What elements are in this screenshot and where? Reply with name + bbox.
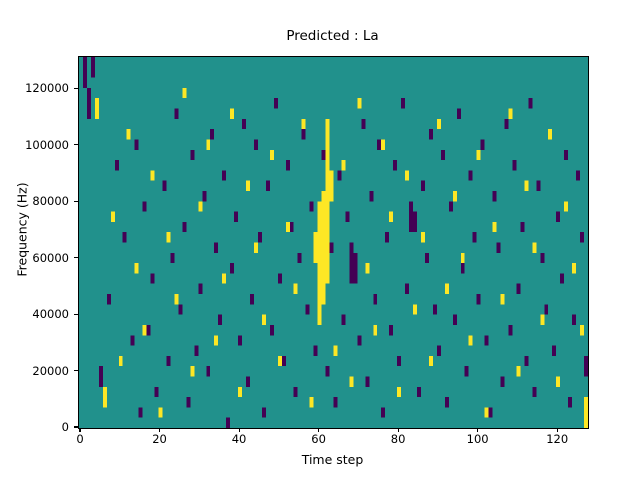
y-tick-mark bbox=[74, 426, 78, 427]
y-tick-mark bbox=[74, 144, 78, 145]
y-tick-label: 100000 bbox=[0, 138, 69, 152]
x-tick-label: 100 bbox=[467, 432, 489, 446]
y-tick-label: 20000 bbox=[0, 364, 69, 378]
x-tick-label: 60 bbox=[311, 432, 326, 446]
y-tick-mark bbox=[74, 201, 78, 202]
x-axis-label: Time step bbox=[78, 452, 587, 467]
x-tick-label: 120 bbox=[546, 432, 568, 446]
heatmap-axes bbox=[78, 56, 589, 429]
y-tick-mark bbox=[74, 88, 78, 89]
x-tick-label: 0 bbox=[76, 432, 83, 446]
y-axis-label: Frequency (Hz) bbox=[15, 150, 30, 310]
y-tick-label: 40000 bbox=[0, 307, 69, 321]
y-tick-mark bbox=[74, 314, 78, 315]
x-tick-label: 20 bbox=[152, 432, 167, 446]
y-tick-label: 0 bbox=[0, 420, 69, 434]
chart-title: Predicted : La bbox=[78, 28, 587, 44]
x-tick-label: 80 bbox=[391, 432, 406, 446]
y-tick-label: 60000 bbox=[0, 251, 69, 265]
x-tick-label: 40 bbox=[232, 432, 247, 446]
y-tick-label: 120000 bbox=[0, 81, 69, 95]
y-tick-mark bbox=[74, 257, 78, 258]
y-tick-label: 80000 bbox=[0, 194, 69, 208]
heatmap-grid bbox=[79, 57, 588, 428]
y-tick-mark bbox=[74, 370, 78, 371]
figure-canvas: Predicted : La 0200004000060000800001000… bbox=[0, 0, 640, 480]
